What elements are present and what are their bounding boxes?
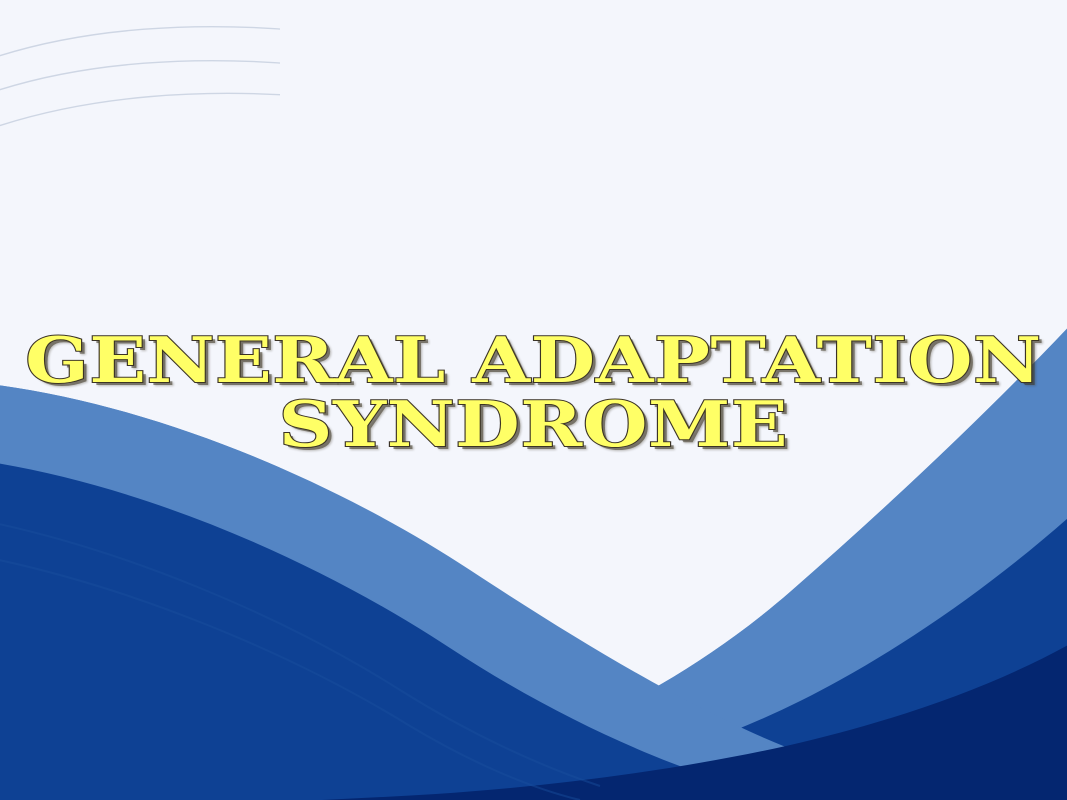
- slide-background-decoration: [0, 0, 1067, 800]
- presentation-slide: GENERAL ADAPTATION SYNDROME: [0, 0, 1067, 800]
